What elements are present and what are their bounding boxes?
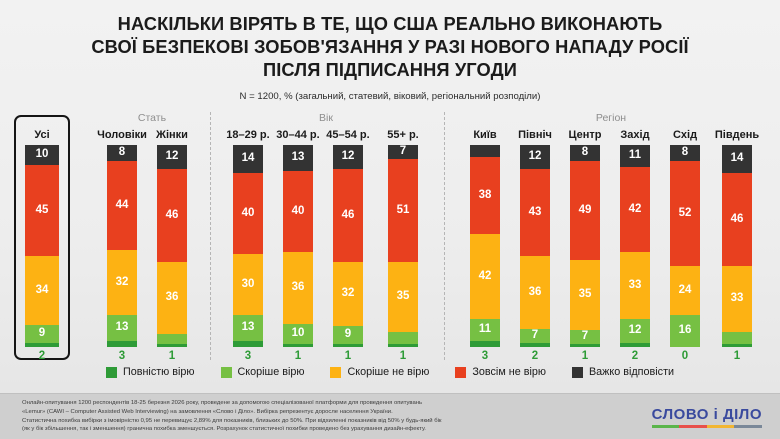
legend-item: Скоріше вірю — [221, 366, 305, 378]
below-bar-value: 1 — [734, 350, 740, 362]
below-bar-value: 1 — [169, 350, 175, 362]
legend-item: Зовсім не вірю — [455, 366, 546, 378]
group-divider-left — [210, 112, 211, 360]
bar-segment — [470, 341, 500, 347]
group-divider-right — [444, 112, 445, 360]
bar-segment: 8 — [107, 145, 137, 161]
bar-segment: 32 — [107, 250, 137, 315]
stacked-bar: 849357 — [570, 145, 600, 347]
methodology-line: (як у бік збільшення, так і зменшення) г… — [22, 425, 567, 434]
bar-segment: 11 — [470, 319, 500, 341]
title-line-2: СВОЇ БЕЗПЕКОВІ ЗОБОВ'ЯЗАННЯ У РАЗІ НОВОГ… — [0, 35, 780, 58]
below-bar-value: 2 — [532, 350, 538, 362]
bar-segment — [722, 332, 752, 344]
column-label: 30–44 р. — [276, 126, 319, 144]
bar-segment: 42 — [620, 167, 650, 252]
bar-segment: 7 — [520, 329, 550, 343]
bar-segment: 33 — [722, 266, 752, 332]
bar-segment — [520, 343, 550, 347]
stacked-bar: 8443213 — [107, 145, 137, 347]
group-title-region: Регіон — [551, 112, 671, 124]
bar-segment: 8 — [670, 145, 700, 161]
bar-segment — [722, 344, 752, 347]
bar-segment: 35 — [570, 260, 600, 330]
legend-label: Повністю вірю — [123, 366, 195, 378]
below-bar-value: 1 — [345, 350, 351, 362]
methodology-line: «Lemur» (CAWI – Computer Assisted Web In… — [22, 408, 567, 417]
stacked-bar: 14403013 — [233, 145, 263, 347]
bar-segment: 16 — [670, 315, 700, 347]
bar-segment: 35 — [388, 262, 418, 332]
column-label: 55+ р. — [387, 126, 419, 144]
bar-segment — [25, 343, 59, 347]
bar-segment — [283, 344, 313, 347]
bar-segment: 14 — [722, 145, 752, 173]
bar-segment: 40 — [233, 173, 263, 254]
stacked-bar: 144633 — [722, 145, 752, 347]
bar-segment: 45 — [25, 165, 59, 256]
bar-segment: 36 — [283, 252, 313, 324]
bar-segment: 30 — [233, 254, 263, 315]
legend-label: Скоріше вірю — [238, 366, 305, 378]
legend-label: Важко відповісти — [589, 366, 674, 378]
legend-item: Важко відповісти — [572, 366, 674, 378]
logo-underline-segment — [652, 425, 680, 429]
logo-underline-segment — [707, 425, 735, 429]
bar-segment: 10 — [25, 145, 59, 165]
legend-label: Зовсім не вірю — [472, 366, 546, 378]
bar-segment — [333, 344, 363, 347]
methodology-line: Статистична похибка вибірки з імовірніст… — [22, 417, 567, 426]
logo-underline — [652, 425, 762, 429]
stacked-bar-chart: Стать Вік Регіон Усі10453492Чоловіки8443… — [0, 108, 780, 363]
bar-segment: 11 — [620, 145, 650, 167]
title-line-1: НАСКІЛЬКИ ВІРЯТЬ В ТЕ, ЩО США РЕАЛЬНО ВИ… — [0, 12, 780, 35]
brand-logo: СЛОВО і ДІЛО — [652, 406, 762, 428]
bar-segment — [470, 145, 500, 157]
subtitle-sample-size: N = 1200, % (загальний, статевий, вікови… — [0, 91, 780, 102]
bar-segment: 49 — [570, 161, 600, 260]
title-block: НАСКІЛЬКИ ВІРЯТЬ В ТЕ, ЩО США РЕАЛЬНО ВИ… — [0, 12, 780, 102]
stacked-bar: 75135 — [388, 145, 418, 347]
legend-swatch-icon — [106, 367, 117, 378]
bar-segment — [570, 344, 600, 347]
bar-segment: 13 — [107, 315, 137, 341]
bar-segment: 51 — [388, 159, 418, 262]
column-label: Південь — [715, 126, 759, 144]
infographic-page: НАСКІЛЬКИ ВІРЯТЬ В ТЕ, ЩО США РЕАЛЬНО ВИ… — [0, 0, 780, 439]
bar-segment — [157, 344, 187, 347]
logo-underline-segment — [734, 425, 762, 429]
title-line-3: ПІСЛЯ ПІДПИСАННЯ УГОДИ — [0, 58, 780, 81]
bar-segment: 40 — [283, 171, 313, 251]
column-label: Київ — [473, 126, 496, 144]
bar-segment: 7 — [388, 145, 418, 159]
bar-segment: 10 — [283, 324, 313, 344]
below-bar-value: 2 — [39, 350, 45, 362]
bar-segment — [388, 344, 418, 347]
stacked-bar: 1243367 — [520, 145, 550, 347]
bar-segment: 13 — [233, 315, 263, 341]
stacked-bar: 384211 — [470, 145, 500, 347]
column-label: 45–54 р. — [326, 126, 369, 144]
column-label: 18–29 р. — [226, 126, 269, 144]
methodology-line: Онлайн-опитування 1200 респондентів 18-2… — [22, 399, 567, 408]
bar-segment: 7 — [570, 330, 600, 344]
bar-segment — [620, 343, 650, 347]
legend-swatch-icon — [330, 367, 341, 378]
legend-swatch-icon — [572, 367, 583, 378]
below-bar-value: 3 — [482, 350, 488, 362]
column-label: Чоловіки — [97, 126, 147, 144]
bar-segment — [233, 341, 263, 347]
below-bar-value: 1 — [582, 350, 588, 362]
bar-segment: 33 — [620, 252, 650, 319]
column-label: Центр — [568, 126, 601, 144]
below-bar-value: 3 — [245, 350, 251, 362]
column-label: Усі — [34, 126, 49, 144]
bar-segment: 42 — [470, 234, 500, 319]
stacked-bar: 1045349 — [25, 145, 59, 347]
legend-item: Скоріше не вірю — [330, 366, 429, 378]
legend-swatch-icon — [455, 367, 466, 378]
column-label: Жінки — [156, 126, 188, 144]
bar-segment: 38 — [470, 157, 500, 234]
bar-segment: 52 — [670, 161, 700, 266]
legend-label: Скоріше не вірю — [347, 366, 429, 378]
column-label: Схід — [673, 126, 697, 144]
stacked-bar: 13403610 — [283, 145, 313, 347]
logo-text: СЛОВО і ДІЛО — [652, 406, 762, 423]
bar-segment: 9 — [333, 326, 363, 344]
column-label: Північ — [518, 126, 552, 144]
bar-segment: 12 — [620, 319, 650, 343]
below-bar-value: 2 — [632, 350, 638, 362]
bar-segment: 12 — [157, 145, 187, 169]
bar-segment: 8 — [570, 145, 600, 161]
below-bar-value: 1 — [295, 350, 301, 362]
below-bar-value: 1 — [400, 350, 406, 362]
bar-segment: 34 — [25, 256, 59, 325]
methodology-note: Онлайн-опитування 1200 респондентів 18-2… — [22, 399, 567, 434]
stacked-bar: 11423312 — [620, 145, 650, 347]
column-label: Захід — [620, 126, 649, 144]
below-bar-value: 0 — [682, 350, 688, 362]
stacked-bar: 1246329 — [333, 145, 363, 347]
bar-segment: 13 — [283, 145, 313, 171]
bar-segment — [388, 332, 418, 344]
group-title-age: Вік — [266, 112, 386, 124]
bar-segment: 43 — [520, 169, 550, 256]
bar-segment: 44 — [107, 161, 137, 250]
chart-legend: Повністю вірюСкоріше вірюСкоріше не вірю… — [0, 366, 780, 378]
bar-segment — [157, 334, 187, 344]
bar-segment: 9 — [25, 325, 59, 343]
bar-segment — [107, 341, 137, 347]
bar-segment: 36 — [157, 262, 187, 334]
bar-segment: 36 — [520, 256, 550, 329]
bar-segment: 14 — [233, 145, 263, 173]
bar-segment: 12 — [333, 145, 363, 169]
bar-segment: 46 — [722, 173, 752, 265]
logo-underline-segment — [679, 425, 707, 429]
below-bar-value: 3 — [119, 350, 125, 362]
stacked-bar: 8522416 — [670, 145, 700, 347]
bar-segment: 46 — [333, 169, 363, 261]
footer: Онлайн-опитування 1200 респондентів 18-2… — [0, 393, 780, 439]
bar-segment: 32 — [333, 262, 363, 326]
bar-segment: 12 — [520, 145, 550, 169]
bar-segment: 46 — [157, 169, 187, 261]
stacked-bar: 124636 — [157, 145, 187, 347]
legend-swatch-icon — [221, 367, 232, 378]
legend-item: Повністю вірю — [106, 366, 195, 378]
group-title-gender: Стать — [92, 112, 212, 124]
bar-segment: 24 — [670, 266, 700, 314]
